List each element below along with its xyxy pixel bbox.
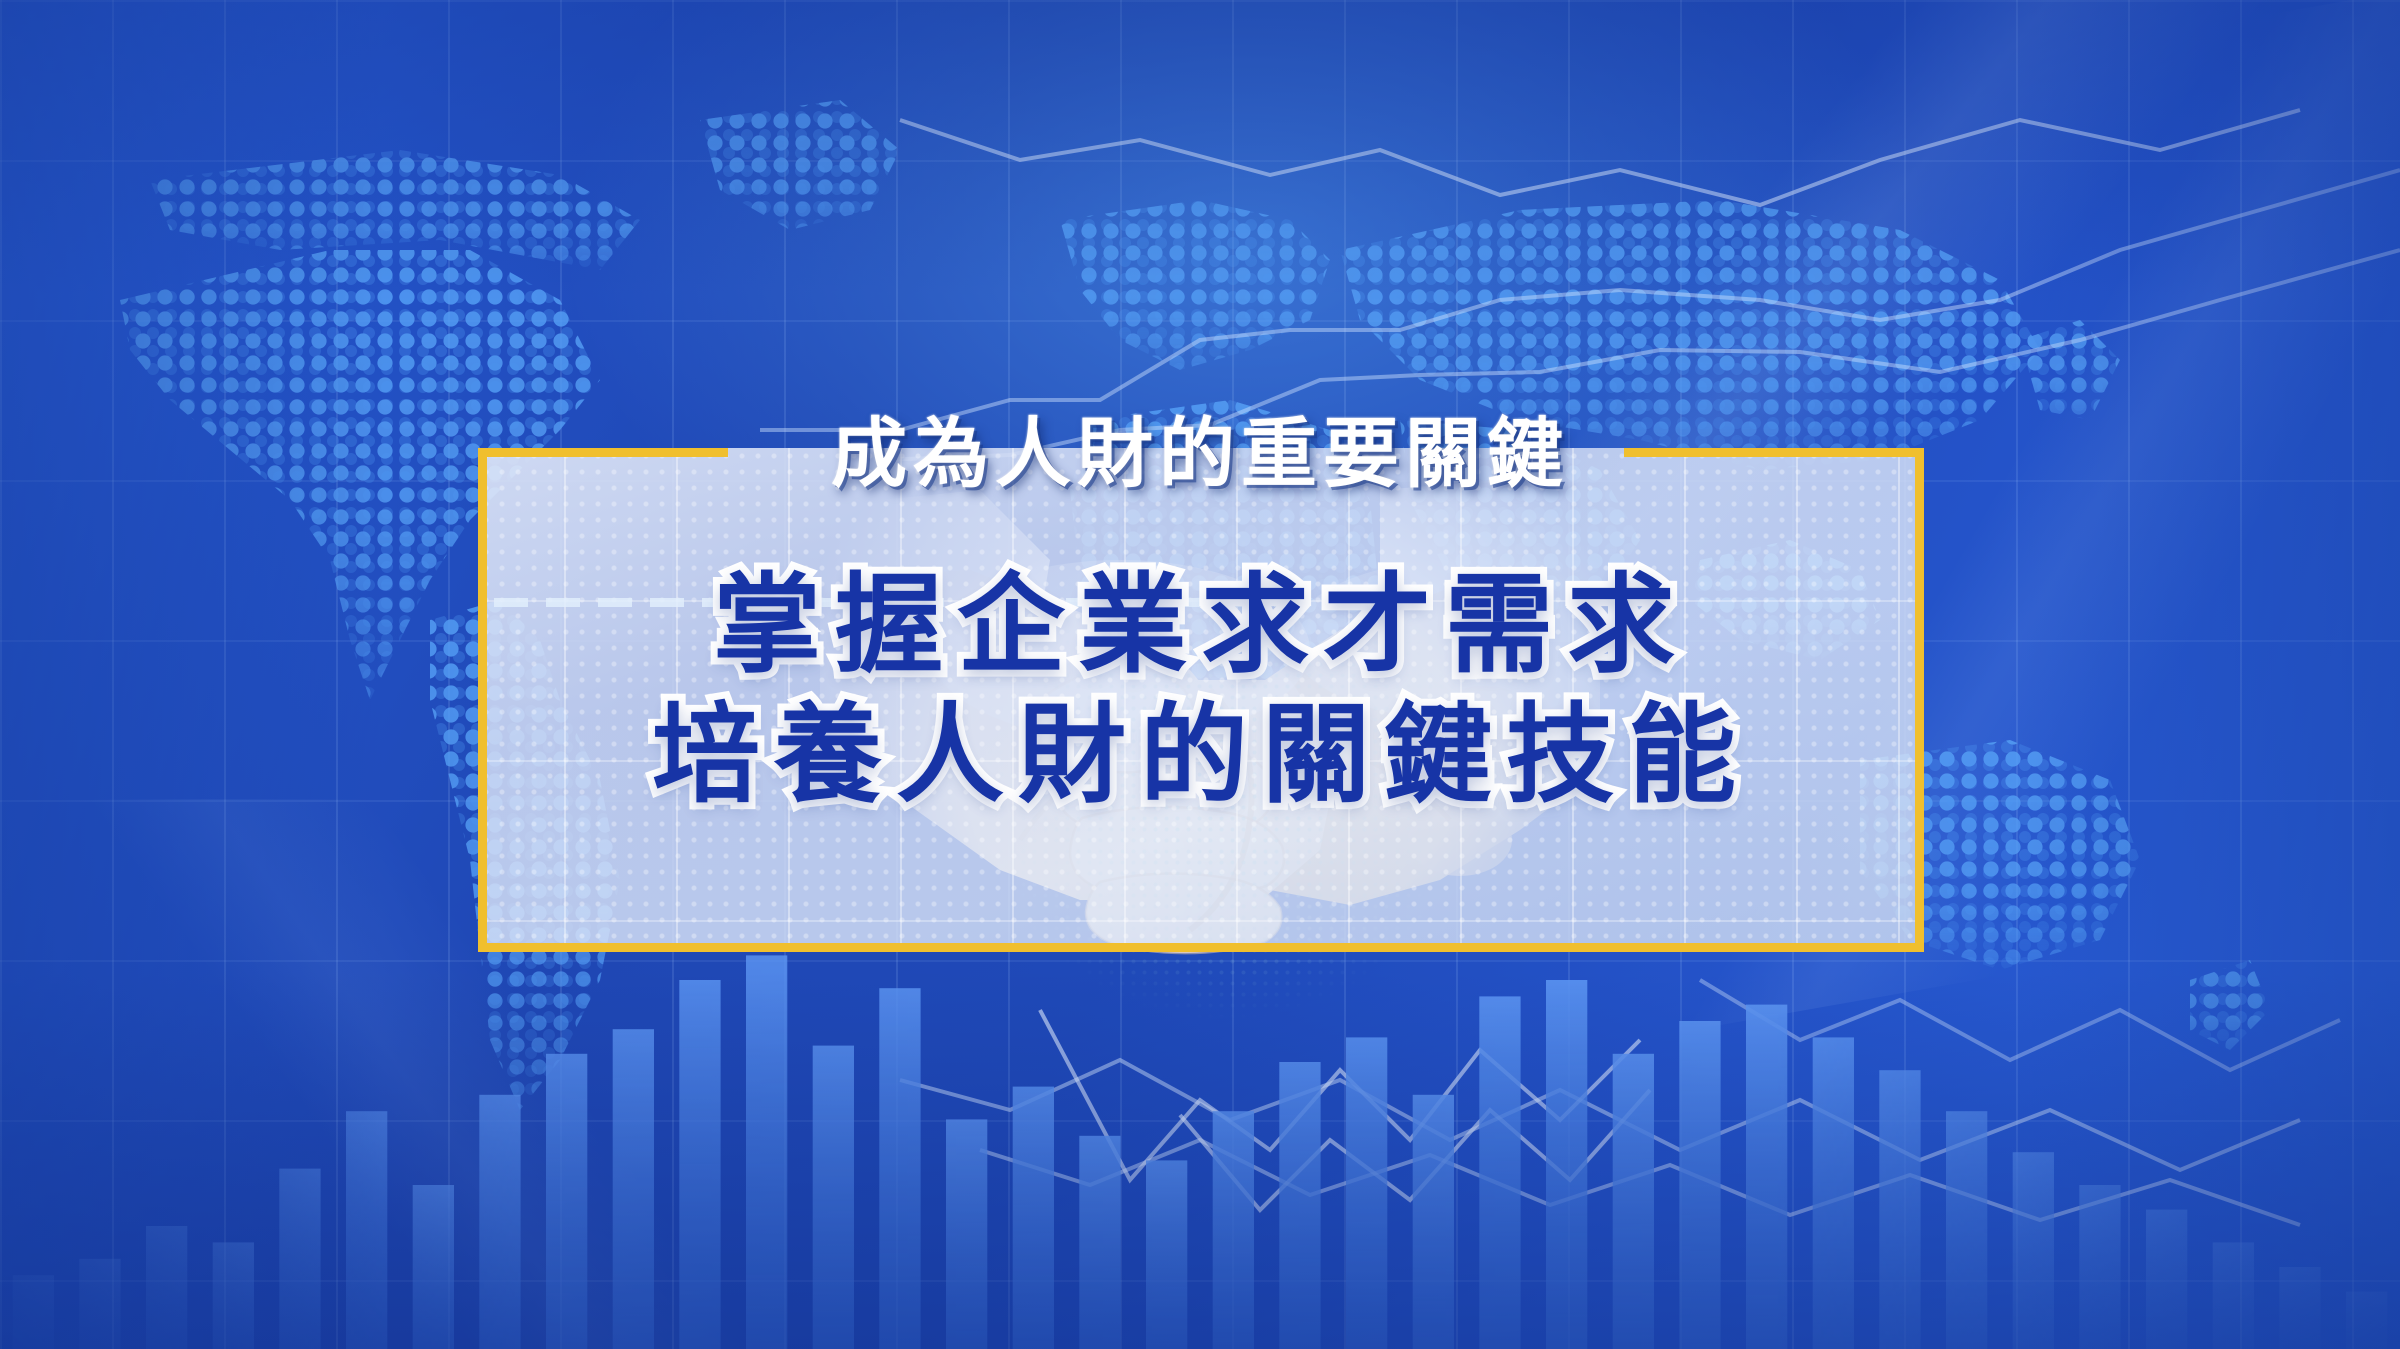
headline-line-2: 培養人財的關鍵技能 (478, 668, 1924, 824)
poster-canvas: 成為人財的重要關鍵 掌握企業求才需求 培養人財的關鍵技能 (0, 0, 2400, 1349)
frame-border-bottom (478, 943, 1924, 952)
eyebrow-title: 成為人財的重要關鍵 (0, 392, 2400, 502)
